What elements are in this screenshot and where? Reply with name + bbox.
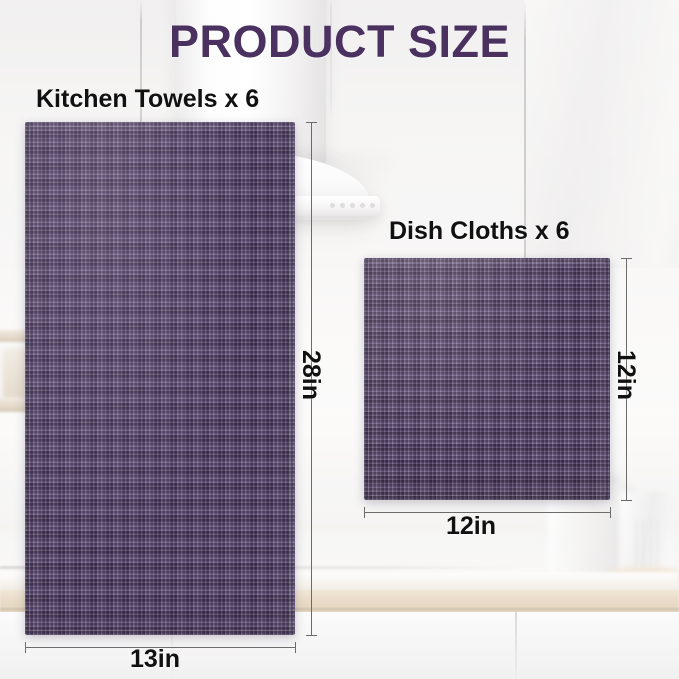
cloth-height-cap-top <box>621 258 632 259</box>
dish-cloths-label: Dish Cloths x 6 <box>389 217 570 246</box>
towel-width-value: 13in <box>130 645 180 674</box>
page-title: PRODUCT SIZE <box>0 16 679 68</box>
towel-width-cap-right <box>295 642 296 653</box>
cloth-width-value: 12in <box>446 512 496 541</box>
product-size-infographic: PRODUCT SIZE Kitchen Towels x 6 28in 13i… <box>0 0 679 679</box>
towel-height-cap-bottom <box>306 635 317 636</box>
cloth-height-cap-bottom <box>621 500 632 501</box>
towel-height-cap-top <box>306 122 317 123</box>
towel-width-cap-left <box>25 642 26 653</box>
kitchen-towels-label: Kitchen Towels x 6 <box>36 85 259 114</box>
kitchen-towel-swatch <box>25 122 295 635</box>
cloth-height-value: 12in <box>611 350 640 400</box>
lower-cabinet-seam-right <box>515 612 517 679</box>
cloth-width-cap-left <box>364 507 365 518</box>
dish-cloth-swatch <box>364 258 610 500</box>
towel-height-value: 28in <box>296 350 325 400</box>
range-hood-control-dots <box>330 203 375 208</box>
cloth-width-cap-right <box>610 507 611 518</box>
